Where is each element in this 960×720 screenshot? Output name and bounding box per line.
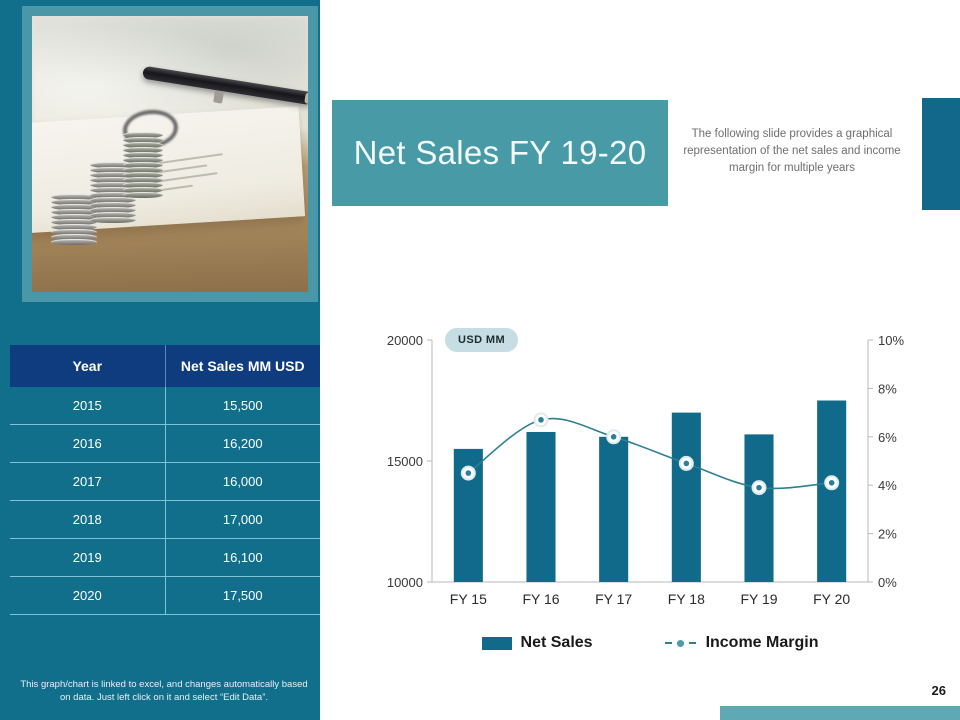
table-col-year: Year xyxy=(10,345,165,387)
svg-text:8%: 8% xyxy=(878,381,897,396)
cell-year: 2015 xyxy=(10,387,165,425)
page-number: 26 xyxy=(932,683,946,698)
cell-net-sales: 15,500 xyxy=(165,387,320,425)
table-col-net-sales: Net Sales MM USD xyxy=(165,345,320,387)
svg-text:15000: 15000 xyxy=(387,454,423,469)
svg-text:20000: 20000 xyxy=(387,333,423,348)
unit-badge: USD MM xyxy=(445,328,518,352)
table-row: 2019 16,100 xyxy=(10,539,320,577)
cell-net-sales: 16,200 xyxy=(165,425,320,463)
chart-legend: Net Sales Income Margin xyxy=(370,634,930,652)
net-sales-table: Year Net Sales MM USD 2015 15,500 2016 1… xyxy=(10,345,320,615)
svg-text:0%: 0% xyxy=(878,575,897,590)
cell-net-sales: 16,000 xyxy=(165,463,320,501)
cell-net-sales: 17,000 xyxy=(165,501,320,539)
title-band: Net Sales FY 19-20 xyxy=(332,100,668,206)
photo-frame xyxy=(22,6,318,302)
cell-year: 2017 xyxy=(10,463,165,501)
svg-text:2%: 2% xyxy=(878,527,897,542)
bottom-accent-bar xyxy=(720,706,960,720)
bar-swatch-icon xyxy=(482,637,512,650)
svg-text:6%: 6% xyxy=(878,430,897,445)
svg-text:FY 19: FY 19 xyxy=(740,591,777,607)
net-sales-chart[interactable]: 1000015000200000%2%4%6%8%10%FY 15FY 16FY… xyxy=(370,322,930,682)
cell-year: 2020 xyxy=(10,577,165,615)
table-row: 2020 17,500 xyxy=(10,577,320,615)
page-title: Net Sales FY 19-20 xyxy=(354,134,647,172)
legend-label: Income Margin xyxy=(706,634,819,652)
table-row: 2017 16,000 xyxy=(10,463,320,501)
svg-text:FY 15: FY 15 xyxy=(450,591,487,607)
legend-item-income-margin[interactable]: Income Margin xyxy=(665,634,819,652)
slide-subtitle: The following slide provides a graphical… xyxy=(676,126,908,177)
svg-text:10%: 10% xyxy=(878,333,904,348)
slide-canvas: Year Net Sales MM USD 2015 15,500 2016 1… xyxy=(0,0,960,720)
svg-text:FY 17: FY 17 xyxy=(595,591,632,607)
svg-text:FY 18: FY 18 xyxy=(668,591,705,607)
svg-text:FY 16: FY 16 xyxy=(522,591,559,607)
chart-canvas: 1000015000200000%2%4%6%8%10%FY 15FY 16FY… xyxy=(370,322,930,622)
cell-year: 2016 xyxy=(10,425,165,463)
svg-text:4%: 4% xyxy=(878,478,897,493)
right-accent-bar xyxy=(922,98,960,210)
cell-year: 2018 xyxy=(10,501,165,539)
excel-link-note: This graph/chart is linked to excel, and… xyxy=(14,678,314,704)
svg-text:10000: 10000 xyxy=(387,575,423,590)
cell-net-sales: 17,500 xyxy=(165,577,320,615)
cell-net-sales: 16,100 xyxy=(165,539,320,577)
svg-text:FY 20: FY 20 xyxy=(813,591,850,607)
legend-item-net-sales[interactable]: Net Sales xyxy=(482,634,593,652)
finance-photo xyxy=(32,16,308,292)
table-header-row: Year Net Sales MM USD xyxy=(10,345,320,387)
legend-label: Net Sales xyxy=(521,634,593,652)
photo-coin-stack xyxy=(123,133,163,198)
table-row: 2016 16,200 xyxy=(10,425,320,463)
table-row: 2018 17,000 xyxy=(10,501,320,539)
dashed-line-swatch-icon xyxy=(665,638,697,648)
cell-year: 2019 xyxy=(10,539,165,577)
table-row: 2015 15,500 xyxy=(10,387,320,425)
